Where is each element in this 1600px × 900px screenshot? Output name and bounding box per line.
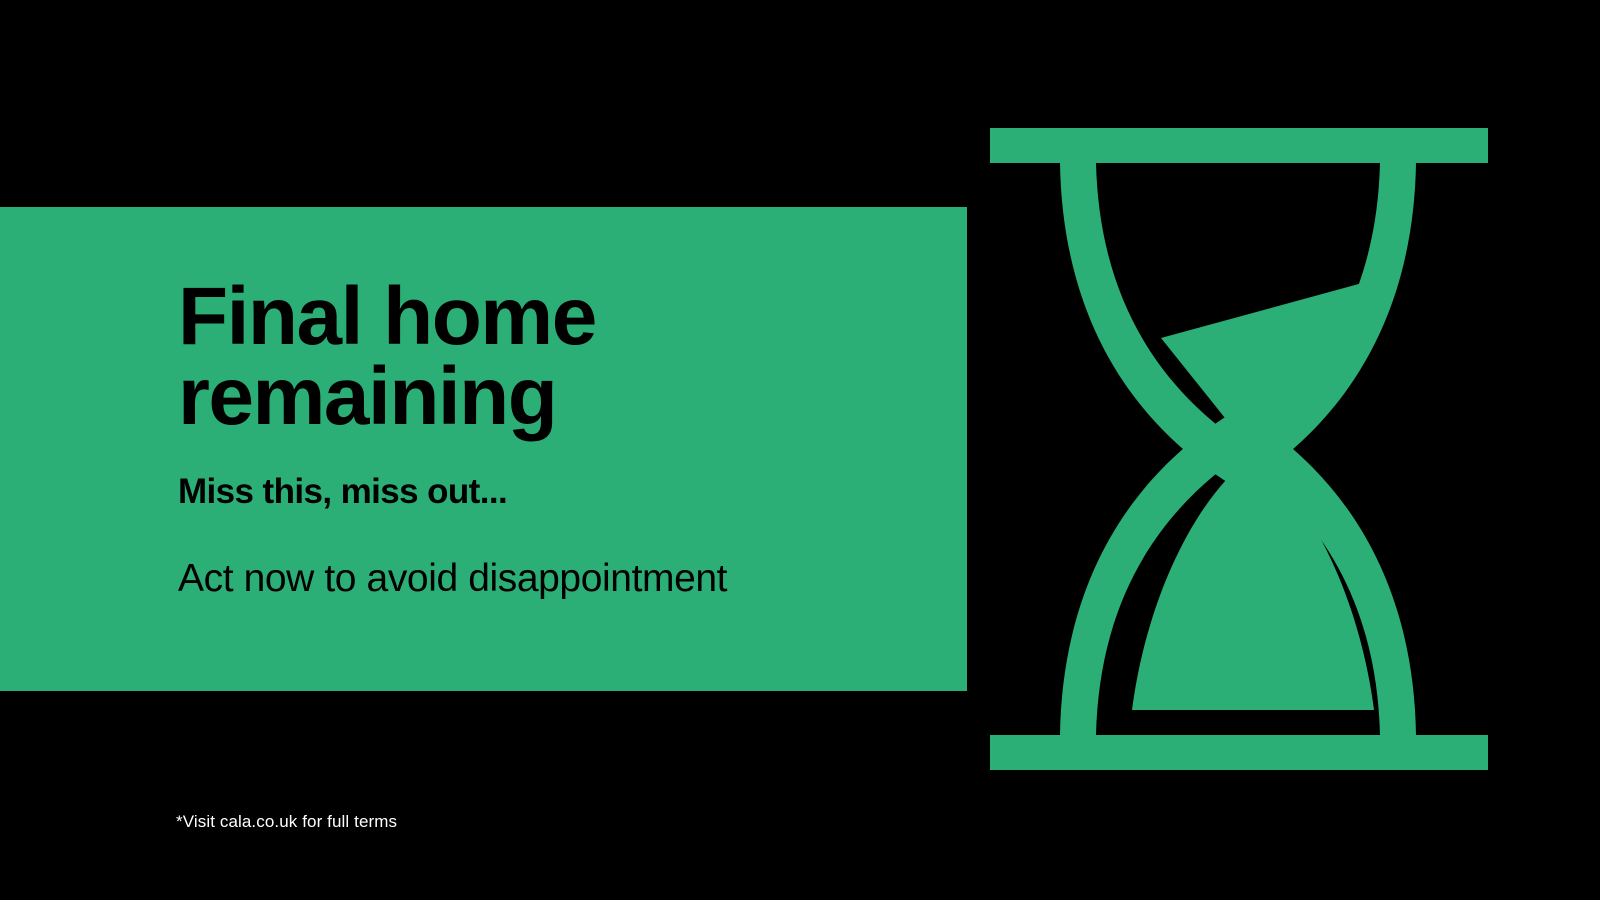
hourglass-icon bbox=[968, 110, 1508, 790]
promo-panel: Final home remaining Miss this, miss out… bbox=[0, 207, 967, 691]
terms-footnote: *Visit cala.co.uk for full terms bbox=[176, 812, 397, 832]
hourglass-bottom-bar bbox=[990, 735, 1488, 770]
promotional-banner: Final home remaining Miss this, miss out… bbox=[0, 0, 1600, 900]
body-copy: Act now to avoid disappointment bbox=[178, 557, 727, 601]
hourglass-top-bar bbox=[990, 128, 1488, 163]
headline: Final home remaining bbox=[178, 277, 596, 438]
subheadline: Miss this, miss out... bbox=[178, 472, 507, 512]
